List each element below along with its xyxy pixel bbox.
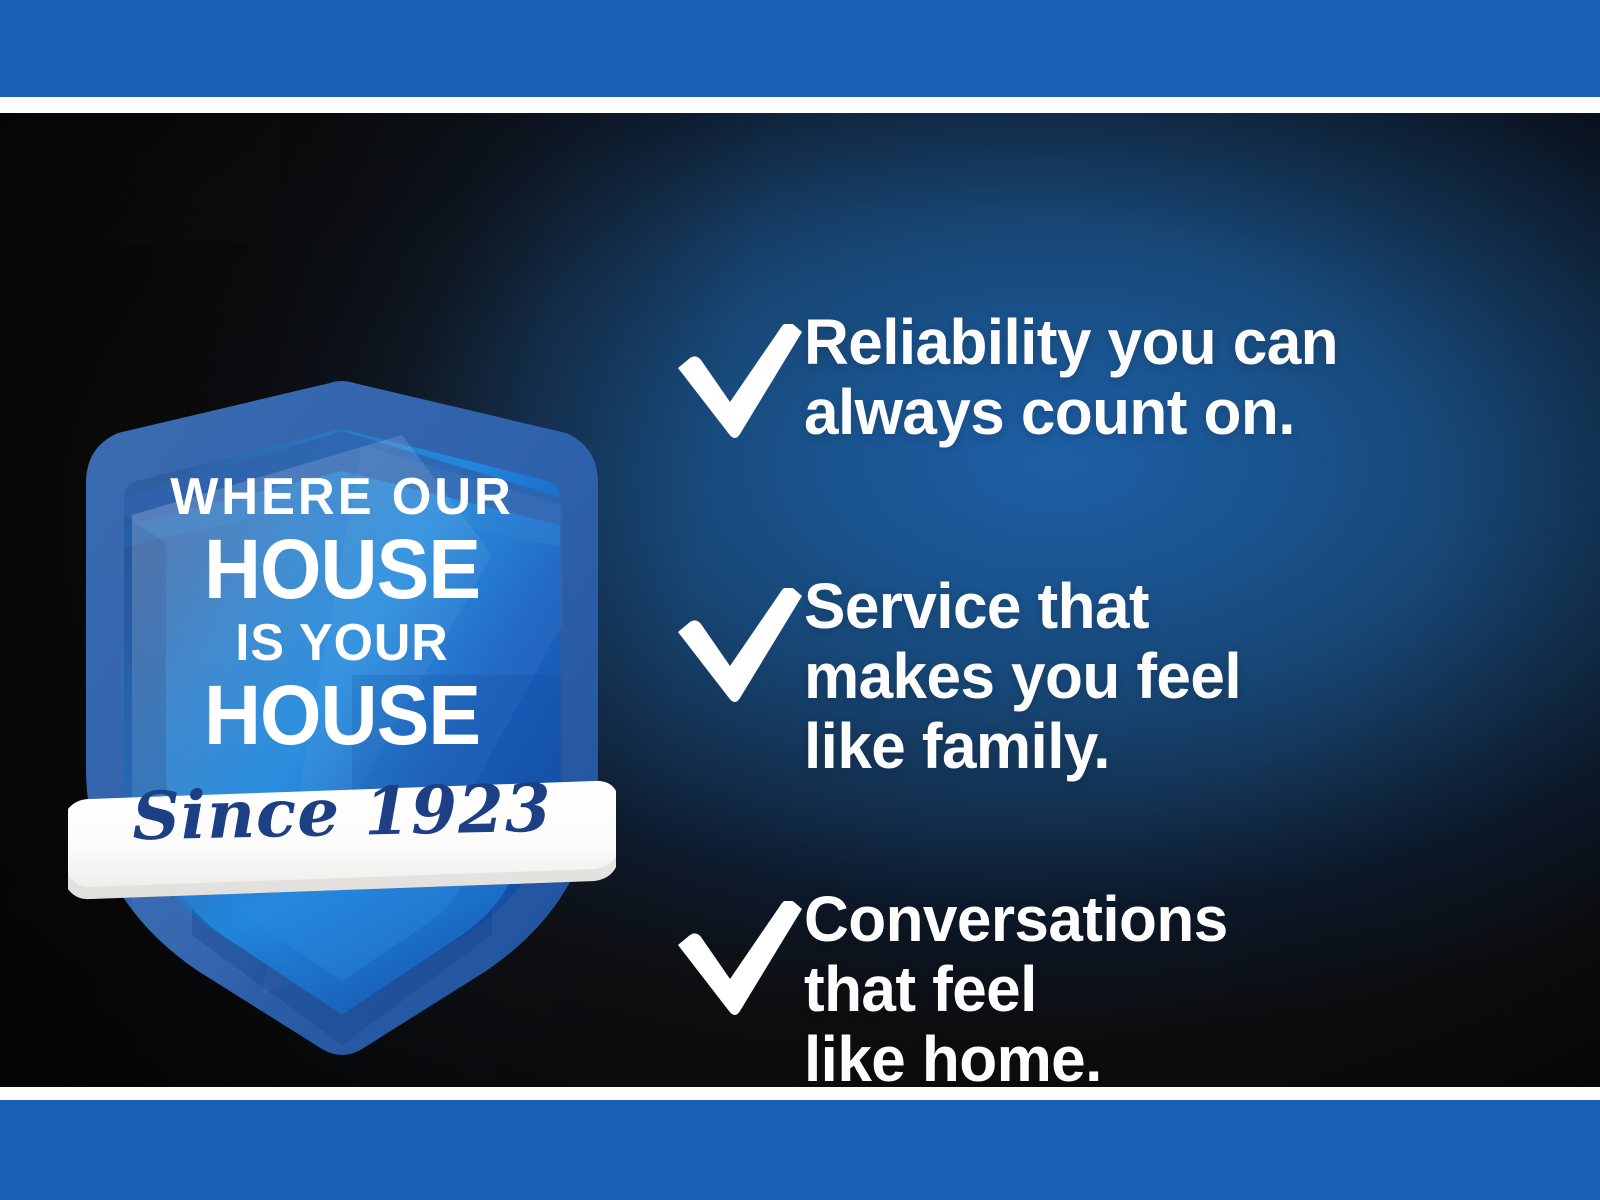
check-icon — [672, 901, 804, 1019]
list-item-line: makes you feel — [804, 642, 1241, 712]
list-item-line: like family. — [804, 712, 1241, 782]
check-icon — [672, 588, 804, 706]
shield-body — [86, 381, 598, 1055]
list-item-line: Conversations — [804, 885, 1228, 955]
check-icon — [672, 324, 804, 442]
list-item-line: always count on. — [804, 378, 1338, 448]
list-item-text: Conversations that feel like home. — [804, 885, 1228, 1087]
brand-bar-bottom — [0, 1100, 1600, 1200]
list-item-text: Service that makes you feel like family. — [804, 572, 1241, 781]
brand-bar-top — [0, 0, 1600, 97]
list-item-line: Service that — [804, 572, 1241, 642]
list-item-line: Reliability you can — [804, 308, 1338, 378]
main-stage: WHERE OUR HOUSE IS YOUR HOUSE Since 1923… — [0, 113, 1600, 1087]
list-item-line: that feel — [804, 955, 1228, 1025]
shield-logo: WHERE OUR HOUSE IS YOUR HOUSE Since 1923 — [62, 375, 622, 1065]
since-ribbon — [68, 781, 616, 899]
list-item: Conversations that feel like home. — [672, 885, 1241, 1087]
list-item: Reliability you can always count on. — [672, 308, 1355, 448]
list-item: Service that makes you feel like family. — [672, 572, 1255, 781]
list-item-line: like home. — [804, 1025, 1228, 1088]
promo-graphic: WHERE OUR HOUSE IS YOUR HOUSE Since 1923… — [0, 0, 1600, 1200]
list-item-text: Reliability you can always count on. — [804, 308, 1338, 448]
